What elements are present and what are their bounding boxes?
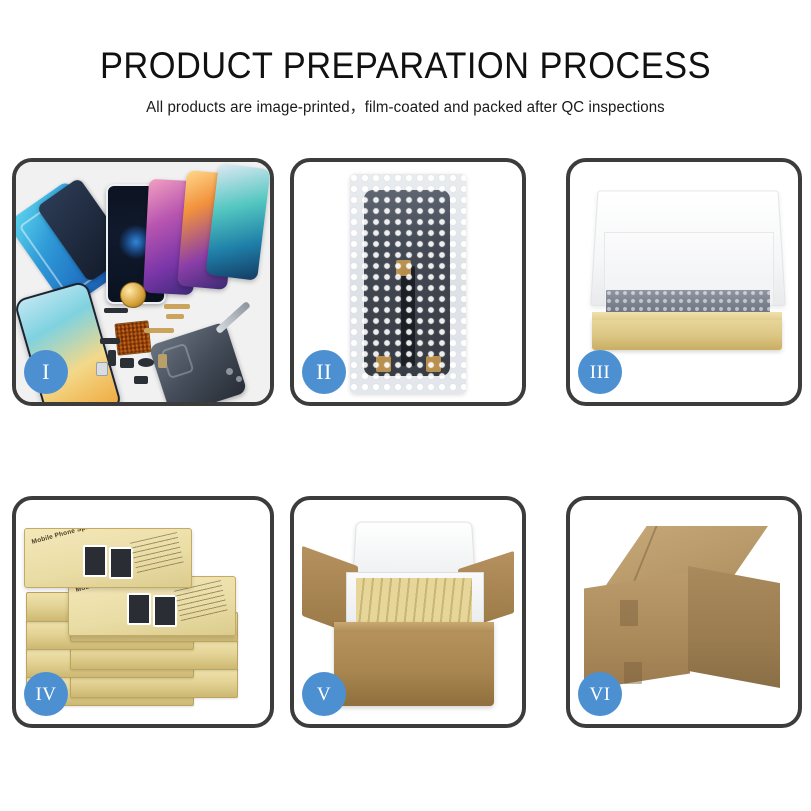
part-dot	[158, 354, 167, 368]
gold-box-tray-icon	[592, 318, 782, 350]
step-panel-6: VI	[566, 496, 802, 728]
bubble-wrap-bag-icon	[350, 174, 466, 394]
steps-grid: I II III	[0, 0, 811, 811]
step-badge-6: VI	[578, 672, 622, 716]
box-phone-image	[109, 547, 133, 579]
flex-cable	[144, 328, 174, 333]
step-badge-2: II	[302, 350, 346, 394]
step-panel-5: V	[290, 496, 526, 728]
part-dot	[134, 376, 148, 384]
part-dot	[108, 350, 116, 366]
flex-cable-strip	[401, 266, 415, 366]
box-spec-lines	[130, 532, 184, 574]
box-phone-image	[83, 545, 107, 577]
part-dot	[96, 362, 108, 376]
part-dot	[236, 376, 242, 382]
carton-tape-upper	[620, 600, 638, 626]
part-dot	[100, 338, 120, 344]
step-badge-1: I	[24, 350, 68, 394]
connector-icon	[376, 356, 391, 372]
box-label-text: Mobile Phone Spare Parts	[31, 528, 115, 546]
gold-boxes-inside-icon	[356, 578, 472, 622]
step-panel-3: III	[566, 158, 802, 406]
carton-body-icon	[334, 622, 494, 706]
logic-board-chip-icon	[114, 320, 151, 355]
part-dot	[226, 368, 233, 375]
flex-cable	[164, 304, 190, 309]
box-phone-image	[127, 593, 151, 625]
step-panel-2: II	[290, 158, 526, 406]
carton-right-face	[688, 566, 780, 688]
connector-icon	[396, 260, 411, 276]
step-badge-3: III	[578, 350, 622, 394]
box-phone-image	[153, 595, 177, 627]
part-dot	[120, 358, 134, 368]
gold-box-top-back: Mobile Phone Spare Parts	[24, 528, 192, 588]
step-panel-1: I	[12, 158, 274, 406]
step-badge-5: V	[302, 672, 346, 716]
part-dot	[104, 308, 128, 313]
step-panel-4: Mobile Phone Spare Parts Mobile Phone Sp…	[12, 496, 274, 728]
connector-icon	[426, 356, 441, 372]
speaker-module-icon	[120, 282, 146, 308]
part-dot	[138, 358, 154, 367]
sealed-carton-icon	[584, 526, 780, 698]
tweezers-tool-icon	[215, 301, 251, 334]
step-badge-4: IV	[24, 672, 68, 716]
flex-cable	[166, 314, 184, 319]
product-preparation-infographic: PRODUCT PREPARATION PROCESS All products…	[0, 0, 811, 811]
carton-tape-lower	[624, 662, 642, 684]
